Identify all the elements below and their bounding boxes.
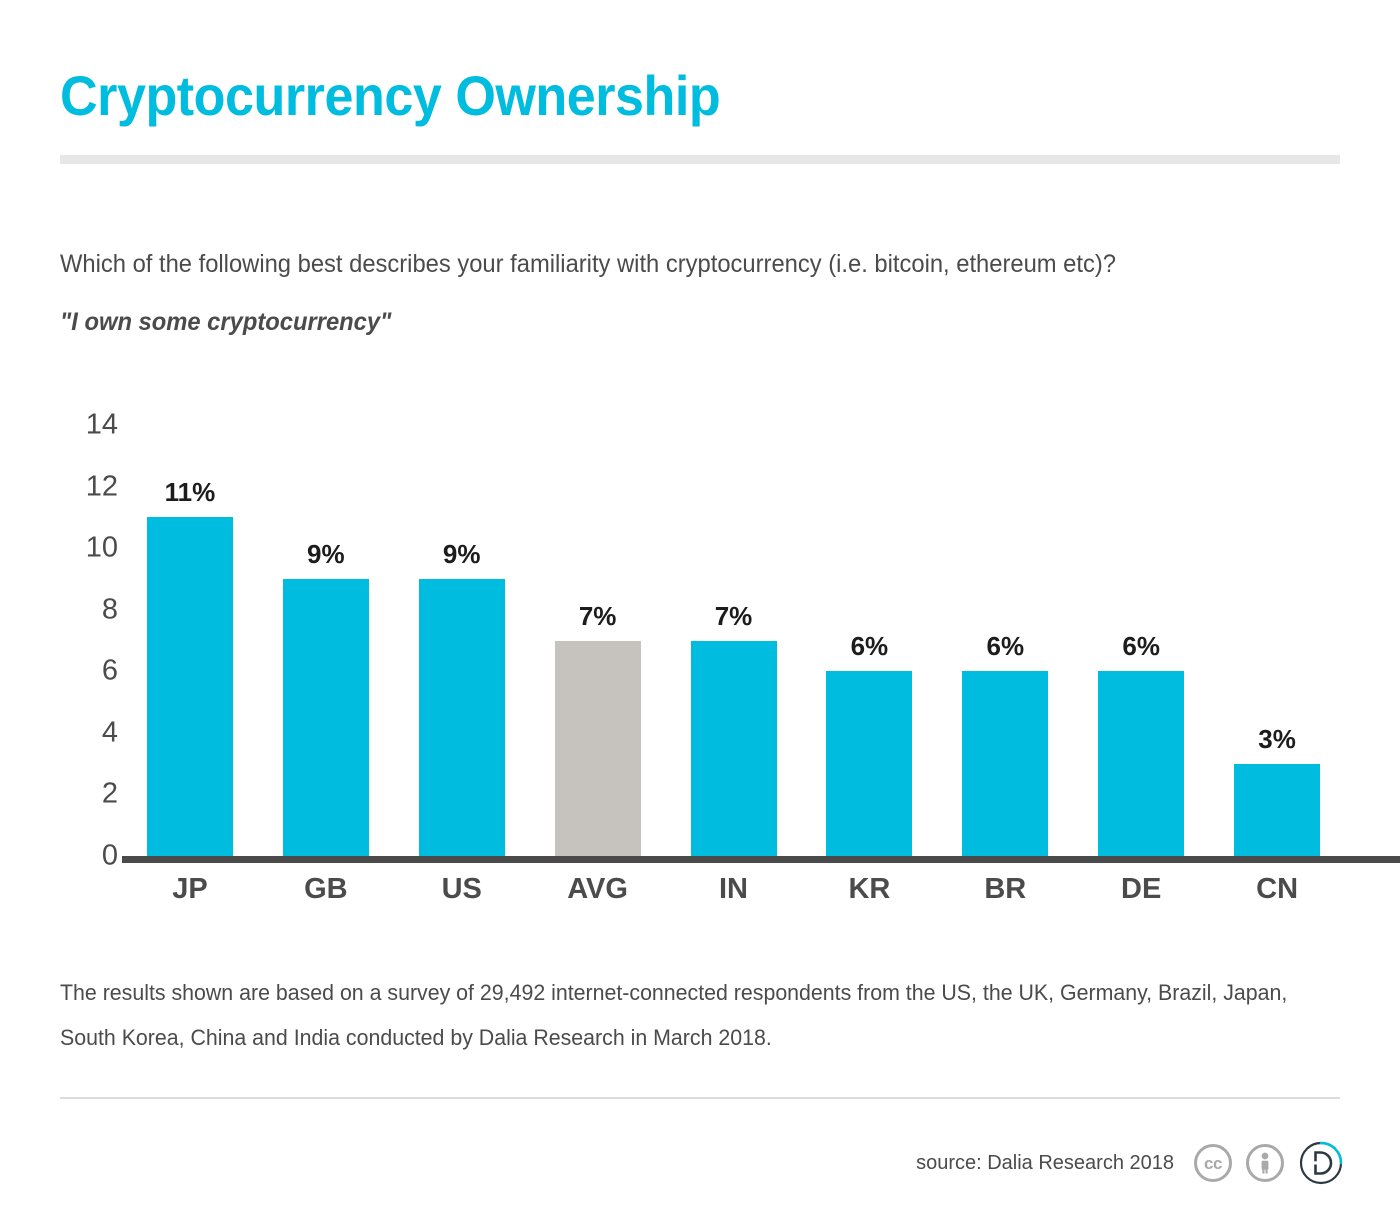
bar-value-label: 3% <box>1258 726 1296 752</box>
x-axis-line <box>122 856 1400 863</box>
y-axis-tick: 14 <box>60 411 118 440</box>
bar-us[interactable] <box>419 579 505 856</box>
bar-value-label: 6% <box>986 633 1024 659</box>
bar-avg[interactable] <box>555 641 641 857</box>
bar-chart: 14121086420 11%9%9%7%7%6%6%6%3% JPGBUSAV… <box>60 425 1345 915</box>
bar-slot: 6% <box>801 425 937 856</box>
bar-slot: 11% <box>122 425 258 856</box>
x-axis-labels: JPGBUSAVGINKRBRDECN <box>122 872 1345 906</box>
bar-value-label: 7% <box>715 603 753 629</box>
plot-area: 11%9%9%7%7%6%6%6%3% <box>122 425 1345 856</box>
x-axis-label-kr: KR <box>801 872 937 906</box>
y-axis-tick: 4 <box>60 718 118 747</box>
bar-value-label: 6% <box>1122 633 1160 659</box>
bar-slot: 7% <box>666 425 802 856</box>
x-axis-label-us: US <box>394 872 530 906</box>
bar-in[interactable] <box>691 641 777 857</box>
bar-jp[interactable] <box>147 517 233 856</box>
y-axis-tick: 10 <box>60 534 118 563</box>
attribution-person-icon <box>1246 1144 1284 1182</box>
x-axis-label-avg: AVG <box>530 872 666 906</box>
y-axis: 14121086420 <box>60 425 118 860</box>
bar-slot: 6% <box>1073 425 1209 856</box>
creative-commons-icon: cc <box>1194 1144 1232 1182</box>
bar-slot: 9% <box>394 425 530 856</box>
y-axis-tick: 12 <box>60 472 118 501</box>
x-axis-label-in: IN <box>666 872 802 906</box>
y-axis-tick: 0 <box>60 842 118 871</box>
survey-question: Which of the following best describes yo… <box>60 248 1116 280</box>
bar-slot: 7% <box>530 425 666 856</box>
bar-cn[interactable] <box>1234 764 1320 856</box>
bar-br[interactable] <box>962 671 1048 856</box>
bar-slot: 9% <box>258 425 394 856</box>
bar-series: 11%9%9%7%7%6%6%6%3% <box>122 425 1345 856</box>
bar-de[interactable] <box>1098 671 1184 856</box>
cc-text: cc <box>1204 1155 1222 1172</box>
x-axis-label-cn: CN <box>1209 872 1345 906</box>
infographic-page: Cryptocurrency Ownership Which of the fo… <box>0 0 1400 1220</box>
bar-slot: 3% <box>1209 425 1345 856</box>
x-axis-label-gb: GB <box>258 872 394 906</box>
bar-kr[interactable] <box>826 671 912 856</box>
bar-value-label: 11% <box>165 479 216 505</box>
y-axis-tick: 6 <box>60 657 118 686</box>
bar-value-label: 6% <box>851 633 889 659</box>
header-divider <box>60 155 1340 164</box>
survey-answer-option: "I own some cryptocurrency" <box>60 305 391 339</box>
bar-value-label: 7% <box>579 603 617 629</box>
y-axis-tick: 2 <box>60 780 118 809</box>
dalia-logo-icon <box>1298 1140 1344 1186</box>
footer-divider <box>60 1097 1340 1099</box>
bar-gb[interactable] <box>283 579 369 856</box>
methodology-note: The results shown are based on a survey … <box>60 970 1311 1060</box>
source-label: source: Dalia Research 2018 <box>916 1151 1174 1175</box>
bar-value-label: 9% <box>307 541 345 567</box>
page-title: Cryptocurrency Ownership <box>60 64 720 128</box>
bar-slot: 6% <box>937 425 1073 856</box>
y-axis-tick: 8 <box>60 595 118 624</box>
footer: source: Dalia Research 2018 cc <box>916 1140 1344 1186</box>
x-axis-label-jp: JP <box>122 872 258 906</box>
bar-value-label: 9% <box>443 541 481 567</box>
x-axis-label-br: BR <box>937 872 1073 906</box>
x-axis-label-de: DE <box>1073 872 1209 906</box>
